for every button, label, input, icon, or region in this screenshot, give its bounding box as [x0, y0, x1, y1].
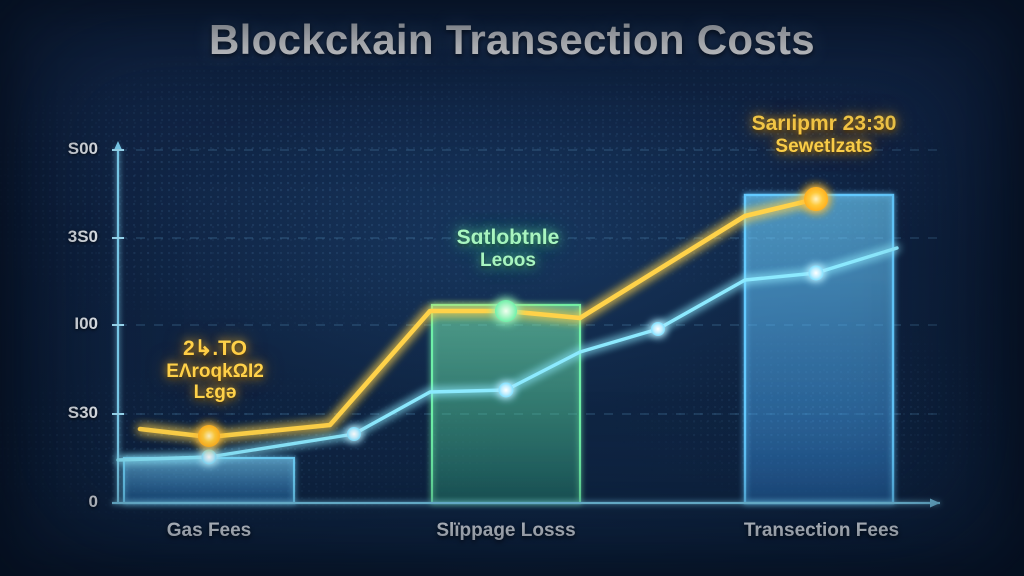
annotation-left-line2: ΕΛroqkΩI2 — [145, 361, 285, 382]
annotation-right: Sarıipmr 23:30 Sewetlzats — [714, 112, 934, 157]
x-tick-label-gas-fees: Gas Fees — [119, 520, 299, 542]
annotation-left-line3: Lεgə — [145, 382, 285, 403]
y-tick-label-1: 3S0 — [18, 227, 98, 247]
bar-gas-fees[interactable] — [124, 458, 294, 503]
x-tick-label-slippage-losss: Slïppage Losss — [406, 520, 606, 542]
annotation-left-line1: 2↳.TO — [145, 337, 285, 361]
annotation-right-line1: Sarıipmr 23:30 — [714, 112, 934, 136]
annotation-middle: Sɑtlobtnle Leoos — [428, 226, 588, 271]
y-tick-label-3: S30 — [18, 403, 98, 423]
y-tick-label-2: I00 — [18, 314, 98, 334]
x-tick-label-transection-fees: Transection Fees — [714, 520, 929, 542]
chart-canvas: Blockckain Transection Costs — [0, 0, 1024, 576]
y-tick-label-4: 0 — [18, 492, 98, 512]
annotation-middle-line2: Leoos — [428, 250, 588, 271]
y-tick-label-0: S00 — [18, 139, 98, 159]
annotation-middle-line1: Sɑtlobtnle — [428, 226, 588, 250]
x-axis-arrow — [930, 499, 940, 508]
annotation-left: 2↳.TO ΕΛroqkΩI2 Lεgə — [145, 337, 285, 403]
annotation-right-line2: Sewetlzats — [714, 136, 934, 157]
plot-area — [0, 0, 1024, 576]
bar-slippage-losss[interactable] — [432, 305, 580, 503]
bar-transection-fees[interactable] — [745, 195, 893, 503]
